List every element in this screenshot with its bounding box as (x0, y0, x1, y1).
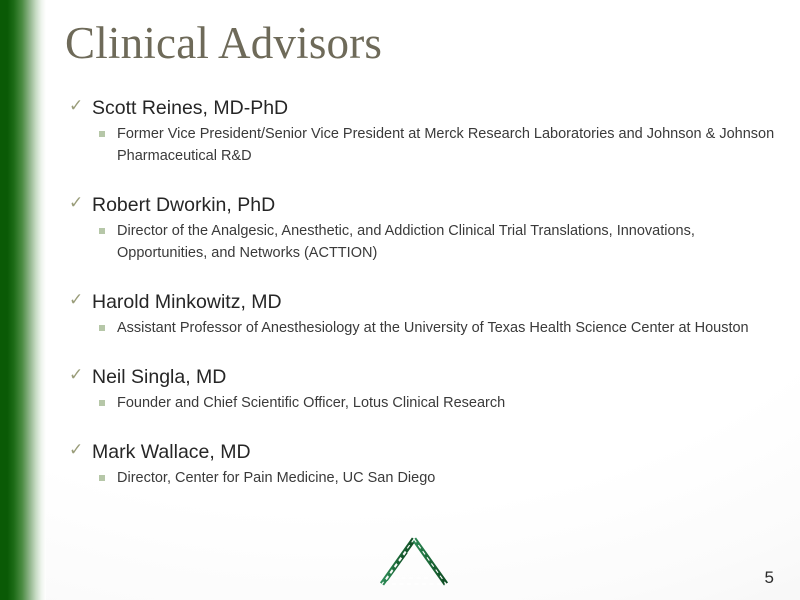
square-bullet-icon (99, 475, 105, 481)
square-bullet-icon (99, 325, 105, 331)
list-item: ✓ Mark Wallace, MD Director, Center for … (66, 439, 778, 489)
advisor-name-row: ✓ Harold Minkowitz, MD (66, 289, 778, 315)
advisor-name: Scott Reines, MD-PhD (92, 97, 288, 119)
left-accent-band (0, 0, 46, 600)
square-bullet-icon (99, 131, 105, 137)
advisor-description: Assistant Professor of Anesthesiology at… (117, 320, 749, 336)
advisor-name: Mark Wallace, MD (92, 441, 251, 463)
check-icon: ✓ (69, 440, 85, 460)
page-number: 5 (765, 568, 774, 588)
list-item: ✓ Neil Singla, MD Founder and Chief Scie… (66, 364, 778, 414)
spacer (66, 167, 778, 192)
advisor-name-row: ✓ Robert Dworkin, PhD (66, 192, 778, 218)
advisor-description: Director, Center for Pain Medicine, UC S… (117, 470, 435, 486)
advisor-name: Robert Dworkin, PhD (92, 194, 275, 216)
advisor-description: Former Vice President/Senior Vice Presid… (117, 126, 774, 164)
advisor-name-row: ✓ Neil Singla, MD (66, 364, 778, 390)
check-icon: ✓ (69, 96, 85, 116)
advisor-name-row: ✓ Scott Reines, MD-PhD (66, 95, 778, 121)
list-item: ✓ Harold Minkowitz, MD Assistant Profess… (66, 289, 778, 339)
slide-canvas: Clinical Advisors ✓ Scott Reines, MD-PhD… (0, 0, 800, 600)
advisor-name-row: ✓ Mark Wallace, MD (66, 439, 778, 465)
advisor-description-row: Founder and Chief Scientific Officer, Lo… (66, 392, 778, 414)
advisor-name: Harold Minkowitz, MD (92, 291, 282, 313)
page-title: Clinical Advisors (65, 16, 745, 70)
advisor-description: Founder and Chief Scientific Officer, Lo… (117, 395, 505, 411)
spacer (66, 264, 778, 289)
spacer (66, 339, 778, 364)
advisor-description-row: Director, Center for Pain Medicine, UC S… (66, 467, 778, 489)
list-item: ✓ Robert Dworkin, PhD Director of the An… (66, 192, 778, 264)
advisor-description-row: Former Vice President/Senior Vice Presid… (66, 123, 778, 167)
triangle-road-logo (366, 536, 462, 590)
list-item: ✓ Scott Reines, MD-PhD Former Vice Presi… (66, 95, 778, 167)
advisor-description-row: Assistant Professor of Anesthesiology at… (66, 317, 778, 339)
advisors-list: ✓ Scott Reines, MD-PhD Former Vice Presi… (66, 95, 778, 489)
advisor-name: Neil Singla, MD (92, 366, 226, 388)
check-icon: ✓ (69, 290, 85, 310)
check-icon: ✓ (69, 365, 85, 385)
advisor-description-row: Director of the Analgesic, Anesthetic, a… (66, 220, 778, 264)
check-icon: ✓ (69, 193, 85, 213)
spacer (66, 414, 778, 439)
advisor-description: Director of the Analgesic, Anesthetic, a… (117, 223, 695, 261)
square-bullet-icon (99, 228, 105, 234)
square-bullet-icon (99, 400, 105, 406)
